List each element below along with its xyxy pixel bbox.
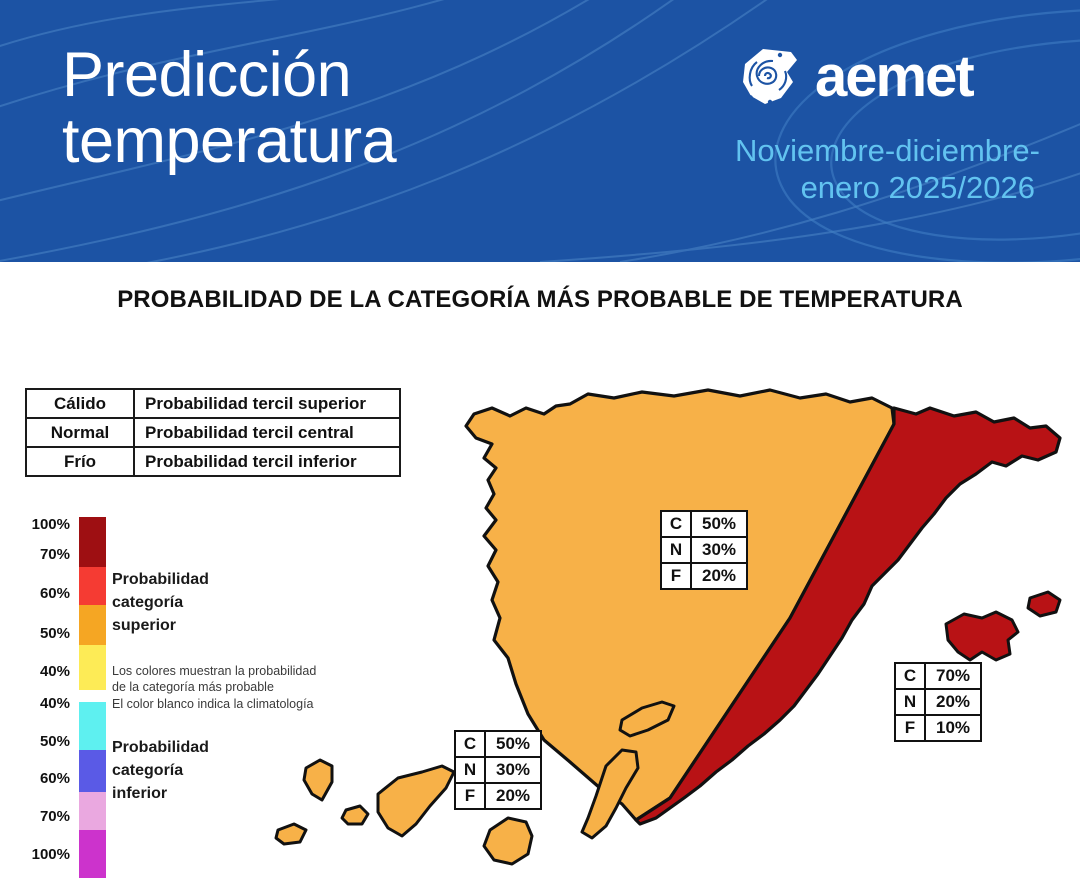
category-name-calido: Cálido xyxy=(26,389,134,418)
colorbar-tick-1: 70% xyxy=(8,546,70,563)
table-row: F 20% xyxy=(455,783,541,809)
prob-cat-n: N xyxy=(661,537,691,563)
prob-cat-c: C xyxy=(661,511,691,537)
prob-val-f: 10% xyxy=(925,715,981,741)
prob-val-f: 20% xyxy=(485,783,541,809)
title-line-1: Predicción xyxy=(62,42,682,108)
prob-cat-c: C xyxy=(895,663,925,689)
section-title: PROBABILIDAD DE LA CATEGORÍA MÁS PROBABL… xyxy=(0,286,1080,314)
probability-box-peninsula: C 50% N 30% F 20% xyxy=(660,510,748,590)
map-region-tenerife xyxy=(378,766,454,836)
spain-probability-map xyxy=(270,368,1080,880)
table-row: C 50% xyxy=(661,511,747,537)
prob-val-n: 30% xyxy=(485,757,541,783)
colorbar-upper-label-2: categoría xyxy=(112,592,183,614)
colorbar-lower-label-3: inferior xyxy=(112,783,167,805)
colorbar-upper-label-1: Probabilidad xyxy=(112,569,209,591)
category-name-frio: Frío xyxy=(26,447,134,476)
prob-cat-n: N xyxy=(895,689,925,715)
prob-cat-f: F xyxy=(895,715,925,741)
infographic-page: Predicción temperatura xyxy=(0,0,1080,880)
map-region-menorca xyxy=(1028,592,1060,616)
map-region-la-gomera xyxy=(342,806,368,824)
prob-val-c: 50% xyxy=(691,511,747,537)
aemet-wordmark: aemet xyxy=(815,48,973,106)
forecast-period: Noviembre-diciembre- enero 2025/2026 xyxy=(735,132,1035,206)
colorbar-tick-2: 60% xyxy=(8,585,70,602)
colorbar-tick-4: 40% xyxy=(8,663,70,680)
colorbar-tick-9: 100% xyxy=(8,846,70,863)
aemet-logo: aemet xyxy=(735,42,1035,112)
prob-cat-c: C xyxy=(455,731,485,757)
colorbar-tick-8: 70% xyxy=(8,808,70,825)
header-banner: Predicción temperatura xyxy=(0,0,1080,262)
colorbar-tick-0: 100% xyxy=(8,516,70,533)
map-region-el-hierro xyxy=(276,824,306,844)
map-region-gran-canaria xyxy=(484,818,532,864)
prob-val-n: 30% xyxy=(691,537,747,563)
prob-val-c: 70% xyxy=(925,663,981,689)
date-line-2: enero 2025/2026 xyxy=(735,169,1035,206)
table-row: N 30% xyxy=(661,537,747,563)
colorbar-lower-label-1: Probabilidad xyxy=(112,737,209,759)
colorbar-tick-6: 50% xyxy=(8,733,70,750)
table-row: F 20% xyxy=(661,563,747,589)
colorbar-upper-label-3: superior xyxy=(112,615,176,637)
prob-val-c: 50% xyxy=(485,731,541,757)
table-row: C 50% xyxy=(455,731,541,757)
page-title: Predicción temperatura xyxy=(62,42,682,174)
map-svg xyxy=(270,368,1080,880)
probability-box-balearic-mediterranean: C 70% N 20% F 10% xyxy=(894,662,982,742)
title-line-2: temperatura xyxy=(62,108,682,174)
category-name-normal: Normal xyxy=(26,418,134,447)
colorbar-note-line-2: de la categoría más probable xyxy=(112,679,274,695)
colorbar-lower-label-2: categoría xyxy=(112,760,183,782)
table-row: F 10% xyxy=(895,715,981,741)
table-row: C 70% xyxy=(895,663,981,689)
prob-val-n: 20% xyxy=(925,689,981,715)
prob-val-f: 20% xyxy=(691,563,747,589)
prob-cat-f: F xyxy=(455,783,485,809)
table-row: N 20% xyxy=(895,689,981,715)
date-line-1: Noviembre-diciembre- xyxy=(735,132,1035,169)
brand-block: aemet Noviembre-diciembre- enero 2025/20… xyxy=(735,42,1035,206)
aemet-spiral-logo-icon xyxy=(735,46,809,108)
table-row: N 30% xyxy=(455,757,541,783)
prob-cat-n: N xyxy=(455,757,485,783)
prob-cat-f: F xyxy=(661,563,691,589)
map-region-mallorca xyxy=(946,612,1018,660)
probability-box-canary: C 50% N 30% F 20% xyxy=(454,730,542,810)
colorbar-tick-7: 60% xyxy=(8,770,70,787)
colorbar-tick-5: 40% xyxy=(8,695,70,712)
map-region-la-palma xyxy=(304,760,332,800)
colorbar-tick-3: 50% xyxy=(8,625,70,642)
